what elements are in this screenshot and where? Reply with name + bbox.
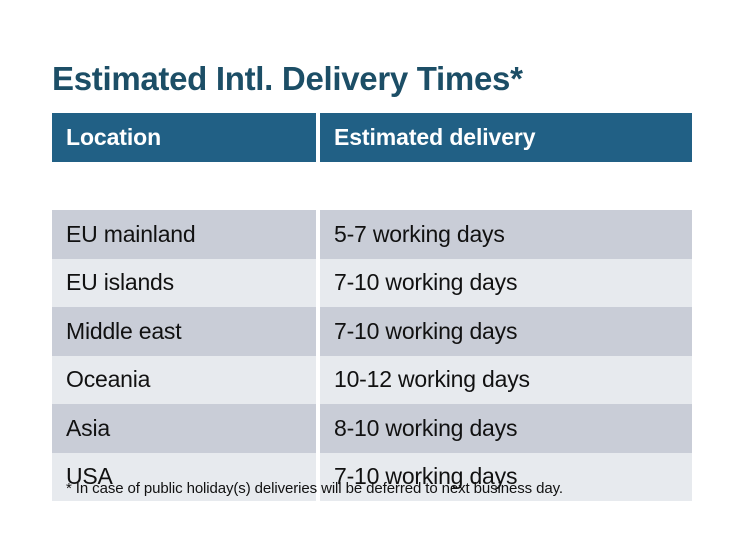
table-header-row: Location Estimated delivery	[52, 113, 692, 162]
cell-estimated-delivery: 7-10 working days	[320, 307, 692, 356]
footnote-text: * In case of public holiday(s) deliverie…	[66, 478, 563, 500]
header-body-spacer	[52, 162, 692, 211]
cell-estimated-delivery: 5-7 working days	[320, 210, 692, 259]
delivery-times-table: Location Estimated delivery EU mainland …	[52, 113, 692, 501]
table-row: EU mainland 5-7 working days	[52, 210, 692, 259]
table-header: Location Estimated delivery	[52, 113, 692, 162]
cell-location: EU mainland	[52, 210, 316, 259]
column-header-estimated-delivery: Estimated delivery	[320, 113, 692, 162]
cell-location: Middle east	[52, 307, 316, 356]
cell-location: Asia	[52, 404, 316, 453]
table-row: Asia 8-10 working days	[52, 404, 692, 453]
spacer-cell-location	[52, 162, 316, 211]
table-body: EU mainland 5-7 working days EU islands …	[52, 162, 692, 502]
cell-estimated-delivery: 10-12 working days	[320, 356, 692, 405]
page-title: Estimated Intl. Delivery Times*	[52, 58, 523, 100]
cell-estimated-delivery: 7-10 working days	[320, 259, 692, 308]
spacer-cell-estimated	[320, 162, 692, 211]
column-header-location: Location	[52, 113, 316, 162]
cell-location: Oceania	[52, 356, 316, 405]
delivery-times-page: Estimated Intl. Delivery Times* Location…	[0, 0, 745, 536]
cell-estimated-delivery: 8-10 working days	[320, 404, 692, 453]
table-row: Oceania 10-12 working days	[52, 356, 692, 405]
table-row: EU islands 7-10 working days	[52, 259, 692, 308]
cell-location: EU islands	[52, 259, 316, 308]
table-row: Middle east 7-10 working days	[52, 307, 692, 356]
